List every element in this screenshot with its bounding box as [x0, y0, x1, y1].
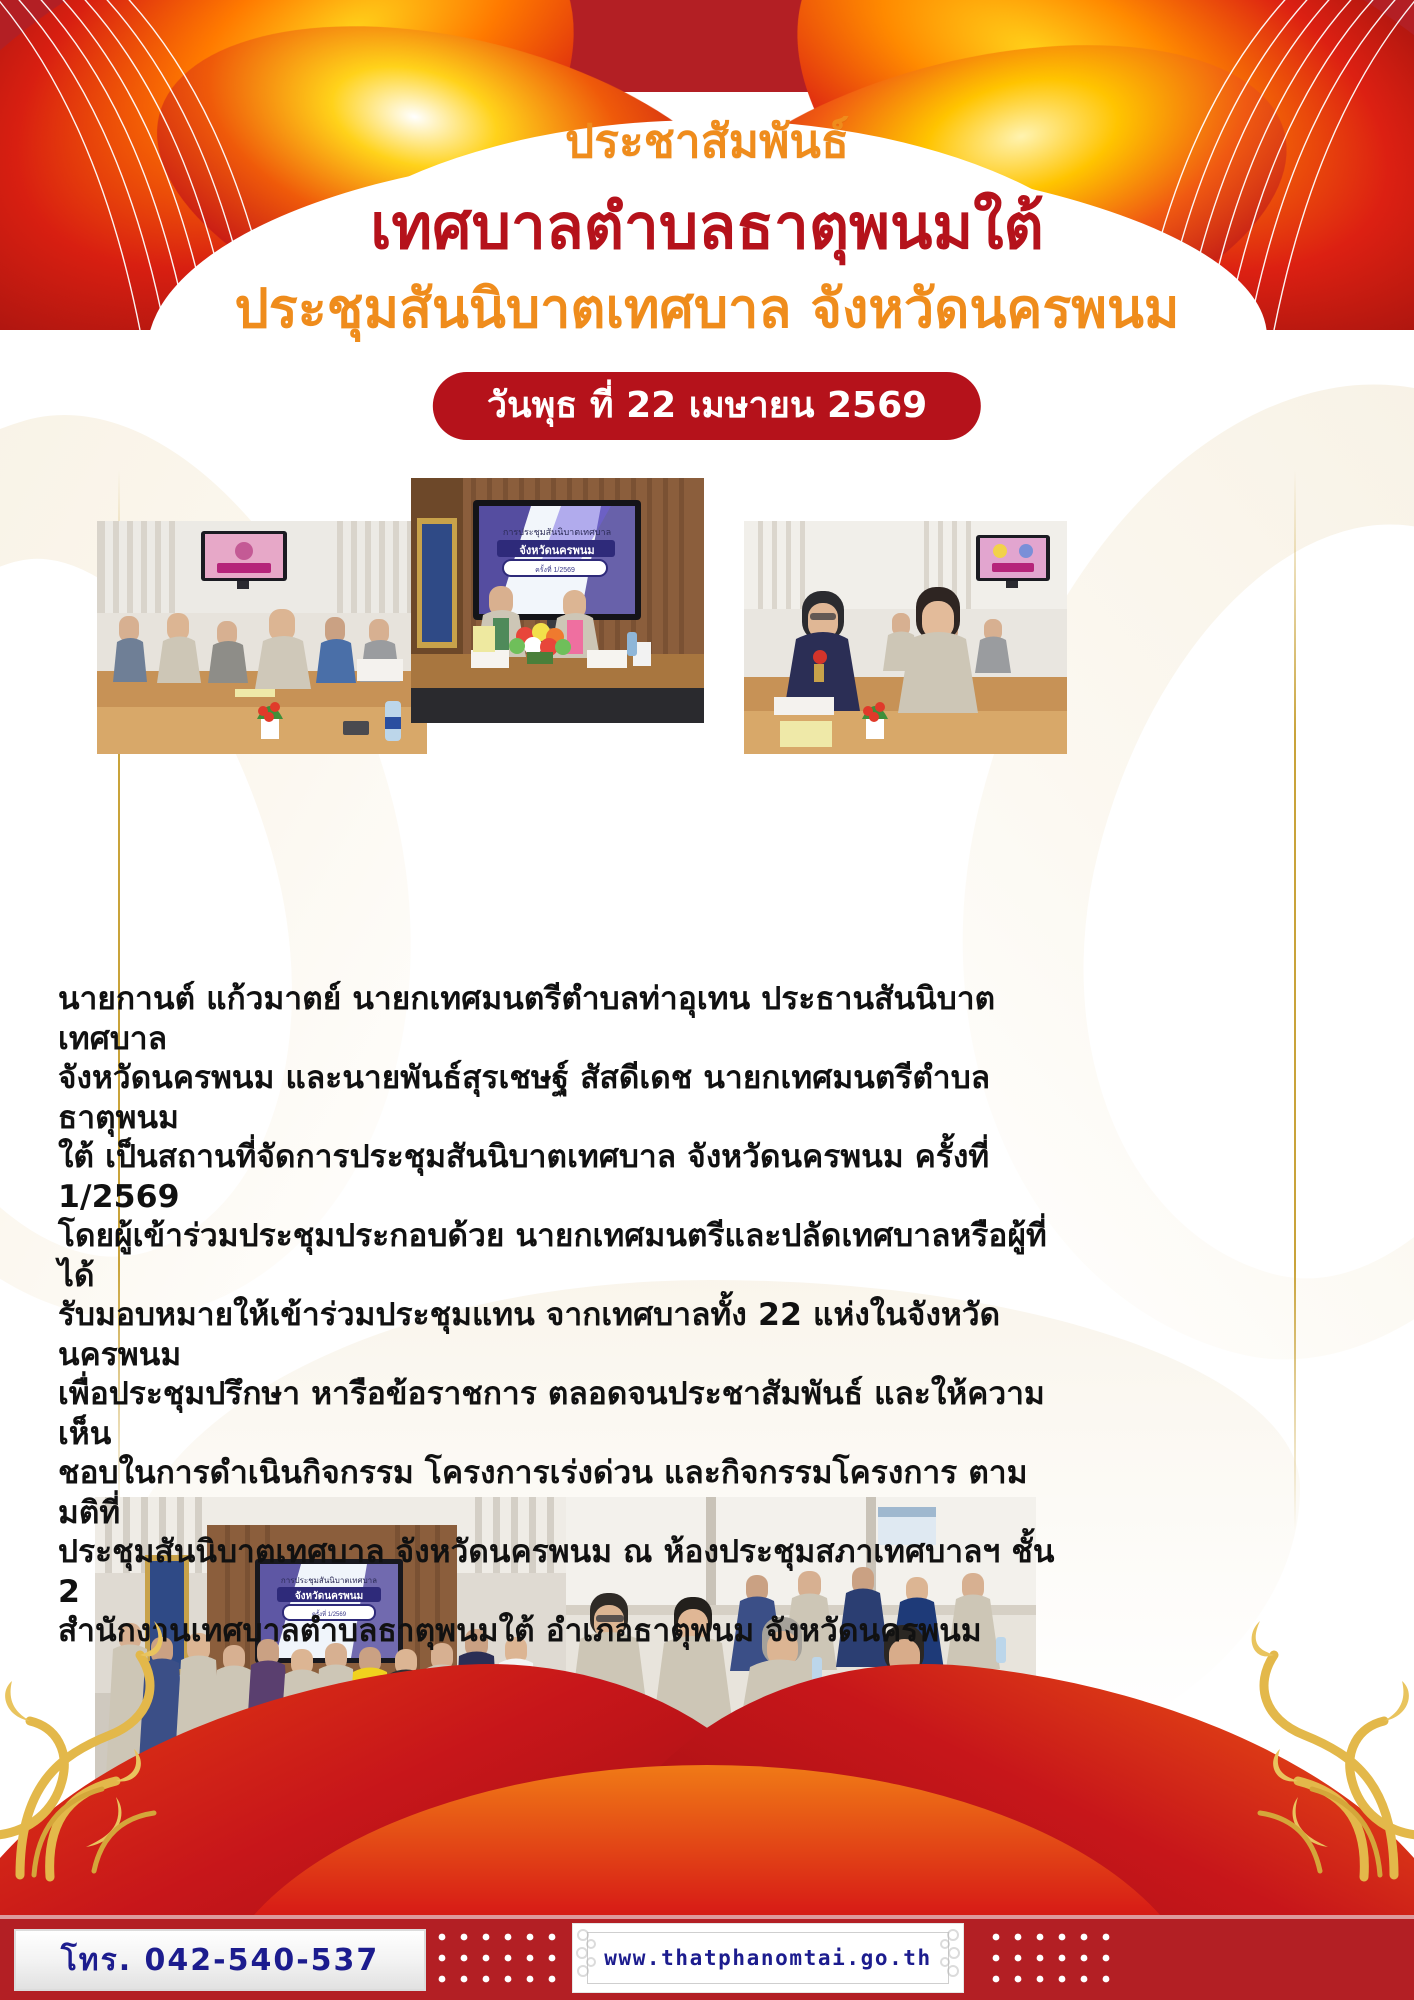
kicker-text: ประชาสัมพันธ์	[0, 118, 1414, 164]
poster-root: ประชาสัมพันธ์ เทศบาลตำบลธาตุพนมใต้ ประชุ…	[0, 0, 1414, 2000]
watermark-swirl-right-inner	[1009, 471, 1414, 1329]
photo-two-women-attendees	[744, 521, 1067, 754]
phone-box: โทร. 042-540-537	[14, 1929, 426, 1991]
gold-accent-line-right	[1294, 470, 1296, 1530]
svg-text:จังหวัดนครพนม: จังหวัดนครพนม	[519, 544, 594, 557]
scroll-ornament-left-icon	[575, 1927, 601, 1979]
gold-ornament-right	[1194, 1585, 1414, 1885]
page-subtitle: ประชุมสันนิบาตเทศบาล จังหวัดนครพนม	[0, 282, 1414, 336]
photo-meeting-attendees-left	[97, 521, 427, 754]
body-paragraph: นายกานต์ แก้วมาตย์ นายกเทศมนตรีตำบลท่าอุ…	[58, 980, 1068, 1652]
footer-dots-right	[990, 1929, 1110, 1987]
svg-text:การประชุมสันนิบาตเทศบาล: การประชุมสันนิบาตเทศบาล	[503, 527, 611, 538]
website-text: www.thatphanomtai.go.th	[604, 1946, 932, 1970]
phone-text: โทร. 042-540-537	[61, 1937, 380, 1984]
scroll-ornament-right-icon	[935, 1927, 961, 1979]
footer-bar: โทร. 042-540-537	[0, 1915, 1414, 2000]
photo-head-table-speakers: การประชุมสันนิบาตเทศบาล จังหวัดนครพนม คร…	[411, 478, 704, 723]
thread-lines-left	[0, 0, 260, 330]
footer-top-rule	[0, 1915, 1414, 1919]
page-title: เทศบาลตำบลธาตุพนมใต้	[0, 196, 1414, 258]
thread-lines-right	[1154, 0, 1414, 330]
website-box: www.thatphanomtai.go.th	[572, 1923, 964, 1993]
footer-dots-left	[436, 1929, 556, 1987]
date-badge: วันพุธ ที่ 22 เมษายน 2569	[433, 372, 981, 440]
